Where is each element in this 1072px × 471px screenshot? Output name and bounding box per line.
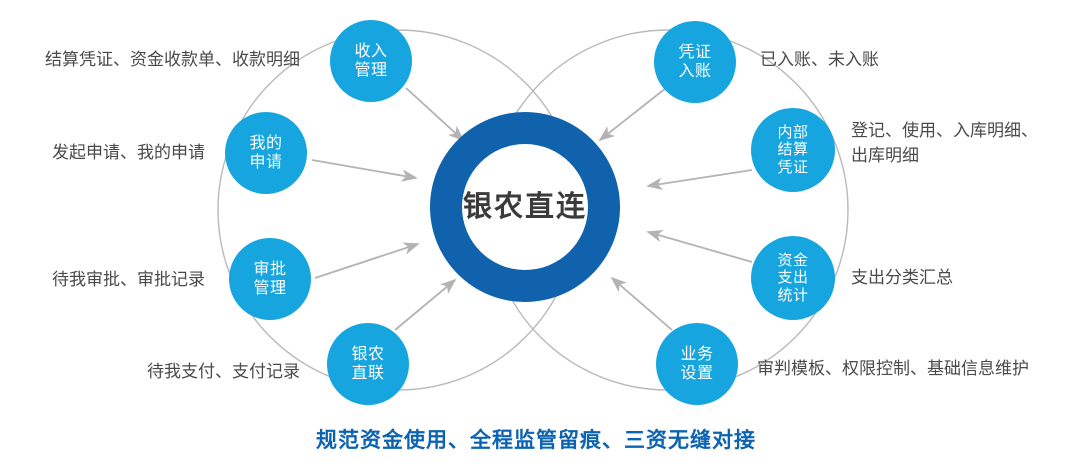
caption-expenditure-statistics: 支出分类汇总 [851, 266, 1071, 291]
arrow-expenditure-statistics [648, 232, 752, 262]
node-income-management-line-2: 管理 [354, 61, 387, 80]
node-expenditure-statistics-line-3: 统计 [777, 287, 808, 304]
caption-approval-management: 待我审批、审批记录 [0, 268, 205, 293]
node-my-application-line-1: 我的 [249, 134, 282, 153]
node-bank-village-direct-line-2: 直联 [351, 364, 384, 383]
node-bank-village-direct-line-1: 银农 [351, 345, 384, 364]
node-expenditure-statistics[interactable]: 资金 支出 统计 [751, 236, 835, 320]
node-voucher-entry-line-2: 入账 [678, 62, 711, 81]
caption-business-settings: 审判模板、权限控制、基础信息维护 [757, 357, 1072, 382]
node-internal-settlement-line-2: 结算 [777, 141, 808, 158]
node-my-application-line-2: 申请 [249, 153, 282, 172]
caption-my-application: 发起申请、我的申请 [0, 141, 205, 166]
node-approval-management[interactable]: 审批 管理 [229, 238, 311, 320]
node-business-settings-line-1: 业务 [680, 345, 713, 364]
node-income-management[interactable]: 收入 管理 [330, 20, 412, 102]
arrow-my-application [312, 160, 416, 178]
node-business-settings-line-2: 设置 [680, 364, 713, 383]
arrow-income-management [406, 88, 463, 140]
center-ring-inner: 银农直连 [462, 144, 588, 270]
caption-voucher-entry: 已入账、未入账 [760, 48, 1060, 73]
node-internal-settlement-line-1: 内部 [777, 124, 808, 141]
arrow-bank-village-direct [395, 280, 455, 330]
caption-bank-village-direct: 待我支付、支付记录 [0, 360, 300, 385]
node-internal-settlement[interactable]: 内部 结算 凭证 [751, 108, 835, 192]
caption-internal-settlement: 登记、使用、入库明细、 出库明细 [851, 119, 1071, 168]
node-approval-management-line-1: 审批 [253, 260, 286, 279]
node-approval-management-line-2: 管理 [253, 279, 286, 298]
diagram-canvas: 银农直连 收入 管理 我的 申请 审批 管理 银农 直联 凭证 入账 内部 结算… [0, 0, 1072, 471]
node-voucher-entry-line-1: 凭证 [678, 43, 711, 62]
tagline: 规范资金使用、全程监管留痕、三资无缝对接 [0, 424, 1072, 454]
node-business-settings[interactable]: 业务 设置 [656, 323, 738, 405]
node-voucher-entry[interactable]: 凭证 入账 [654, 21, 736, 103]
arrow-business-settings [612, 278, 672, 330]
arrow-internal-settlement [648, 170, 752, 186]
arrow-approval-management [315, 244, 418, 278]
node-expenditure-statistics-line-1: 资金 [777, 252, 808, 269]
arrow-voucher-entry [600, 88, 666, 140]
node-bank-village-direct[interactable]: 银农 直联 [327, 323, 409, 405]
node-expenditure-statistics-line-2: 支出 [777, 269, 808, 286]
caption-income-management: 结算凭证、资金收款单、收款明细 [0, 48, 300, 73]
center-ring: 银农直连 [430, 112, 620, 302]
node-my-application[interactable]: 我的 申请 [225, 112, 307, 194]
node-income-management-line-1: 收入 [354, 42, 387, 61]
center-title-line-1: 银农直连 [463, 189, 587, 224]
node-internal-settlement-line-3: 凭证 [777, 159, 808, 176]
